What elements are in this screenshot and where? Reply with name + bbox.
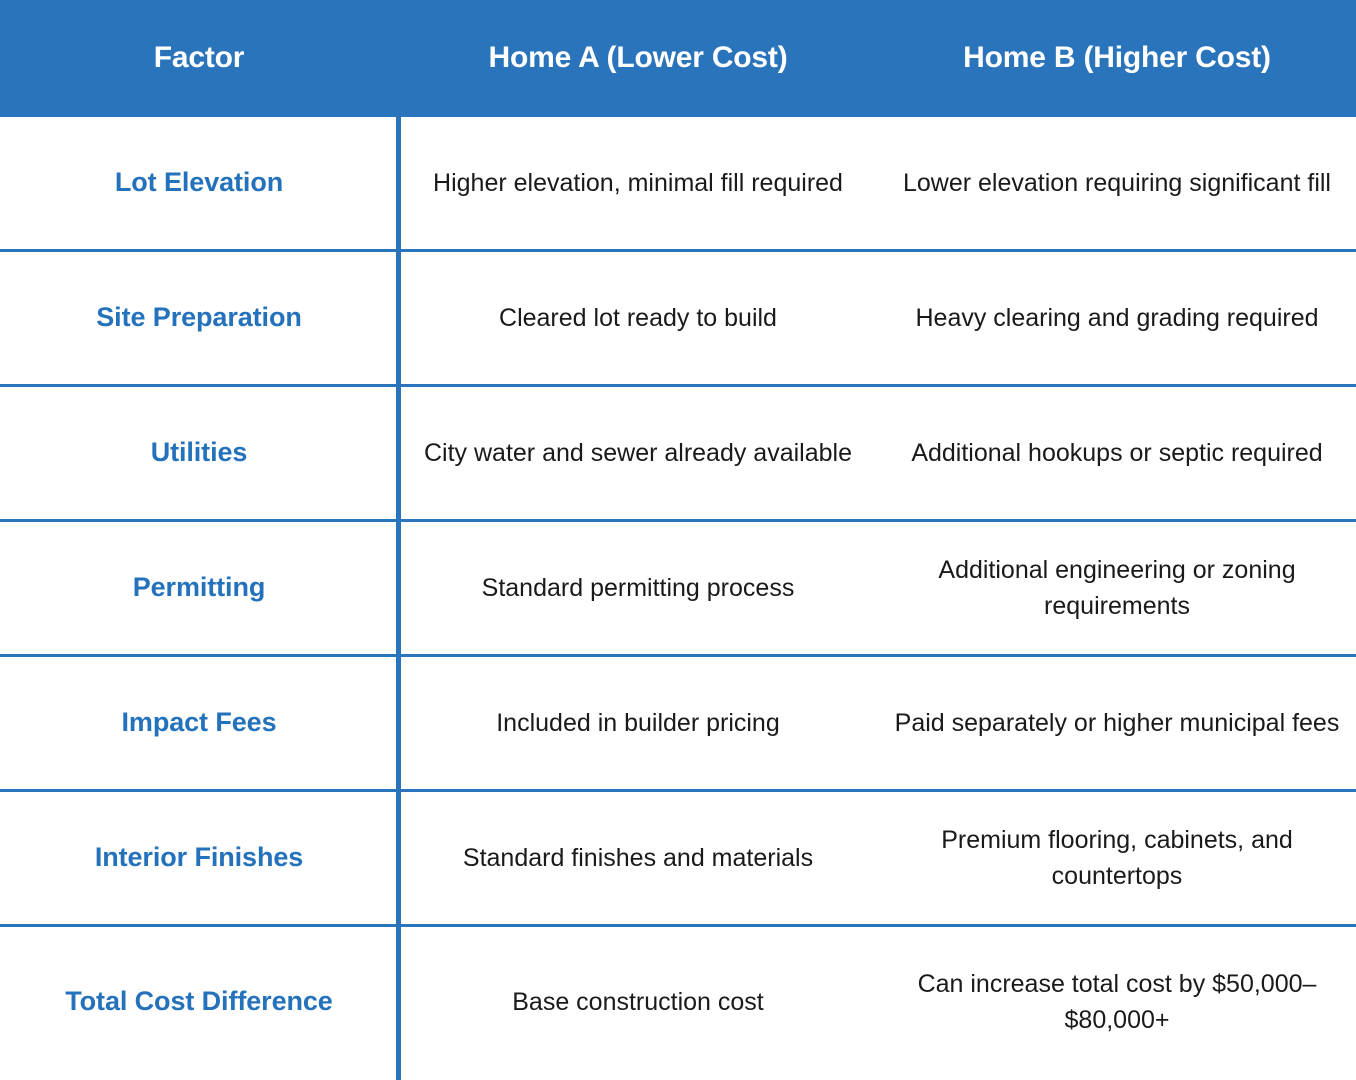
cell-factor: Lot Elevation [0,117,398,249]
cell-factor: Total Cost Difference [0,927,398,1077]
cell-factor: Permitting [0,522,398,654]
cell-home-b: Additional engineering or zoning require… [878,522,1356,654]
column-header-home-b: Home B (Higher Cost) [878,41,1356,76]
cell-home-a: Included in builder pricing [398,657,878,789]
cell-factor: Utilities [0,387,398,519]
column-header-factor: Factor [0,41,398,76]
cell-home-a: Standard finishes and materials [398,792,878,924]
table-row: Total Cost Difference Base construction … [0,927,1356,1077]
table-row: Lot Elevation Higher elevation, minimal … [0,117,1356,252]
cell-factor: Site Preparation [0,252,398,384]
cell-factor: Impact Fees [0,657,398,789]
cost-comparison-table: Factor Home A (Lower Cost) Home B (Highe… [0,0,1356,1080]
cell-home-b: Additional hookups or septic required [878,387,1356,519]
cell-home-a: Higher elevation, minimal fill required [398,117,878,249]
table-body: Lot Elevation Higher elevation, minimal … [0,117,1356,1080]
cell-home-a: Standard permitting process [398,522,878,654]
table-row: Utilities City water and sewer already a… [0,387,1356,522]
table-row: Impact Fees Included in builder pricing … [0,657,1356,792]
cell-factor: Interior Finishes [0,792,398,924]
cell-home-a: Base construction cost [398,927,878,1077]
cell-home-a: City water and sewer already available [398,387,878,519]
column-header-home-a: Home A (Lower Cost) [398,41,878,76]
cell-home-b: Lower elevation requiring significant fi… [878,117,1356,249]
column-divider [396,117,401,1080]
table-row: Interior Finishes Standard finishes and … [0,792,1356,927]
table-row: Permitting Standard permitting process A… [0,522,1356,657]
cell-home-a: Cleared lot ready to build [398,252,878,384]
cell-home-b: Can increase total cost by $50,000–$80,0… [878,927,1356,1077]
cell-home-b: Premium flooring, cabinets, and countert… [878,792,1356,924]
table-header-row: Factor Home A (Lower Cost) Home B (Highe… [0,0,1356,117]
cell-home-b: Paid separately or higher municipal fees [878,657,1356,789]
table-row: Site Preparation Cleared lot ready to bu… [0,252,1356,387]
cell-home-b: Heavy clearing and grading required [878,252,1356,384]
